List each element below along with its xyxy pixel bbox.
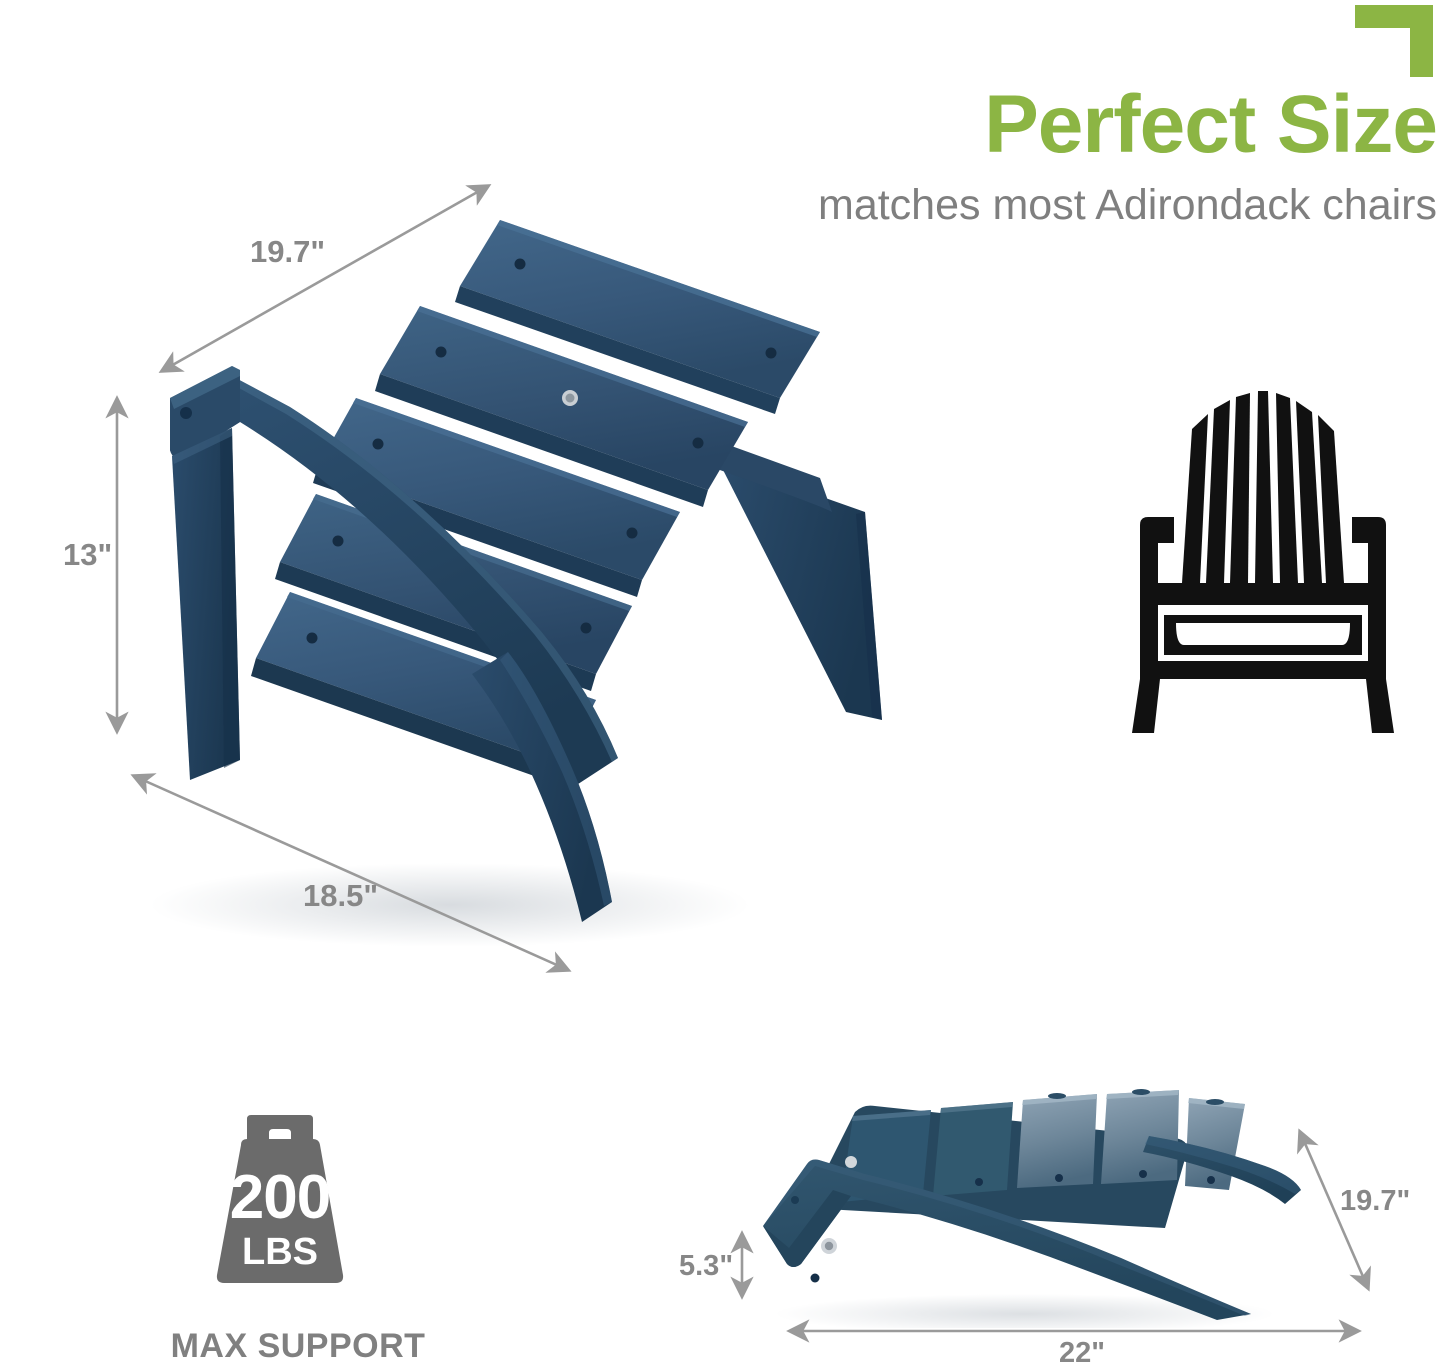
dimension-label-folded-depth: 19.7" <box>1340 1185 1410 1218</box>
dimension-label-folded-width: 22" <box>1059 1337 1105 1370</box>
page-title: Perfect Size <box>737 86 1437 164</box>
folded-slat <box>1017 1093 1097 1188</box>
folded-slat <box>1101 1089 1179 1184</box>
dimension-label-height: 13" <box>63 537 112 573</box>
ottoman-folded-side-icon <box>745 1078 1305 1328</box>
corner-bracket-icon <box>1355 5 1433 77</box>
dimension-label-folded-height: 5.3" <box>679 1250 733 1283</box>
weight-value: 200 <box>175 1167 385 1229</box>
dimension-arrow-depth <box>118 758 586 988</box>
dimension-label-width: 19.7" <box>250 234 325 270</box>
folded-slat <box>933 1102 1013 1196</box>
dimension-label-depth: 18.5" <box>303 878 378 914</box>
weight-unit: LBS <box>175 1233 385 1271</box>
max-support-caption: MAX SUPPORT <box>148 1327 448 1366</box>
dimension-arrow-width <box>140 168 510 393</box>
adirondack-chair-silhouette-icon <box>1118 383 1408 733</box>
max-support-badge: 200 LBS <box>175 1115 385 1295</box>
infographic-canvas: Perfect Size matches most Adirondack cha… <box>0 0 1451 1370</box>
